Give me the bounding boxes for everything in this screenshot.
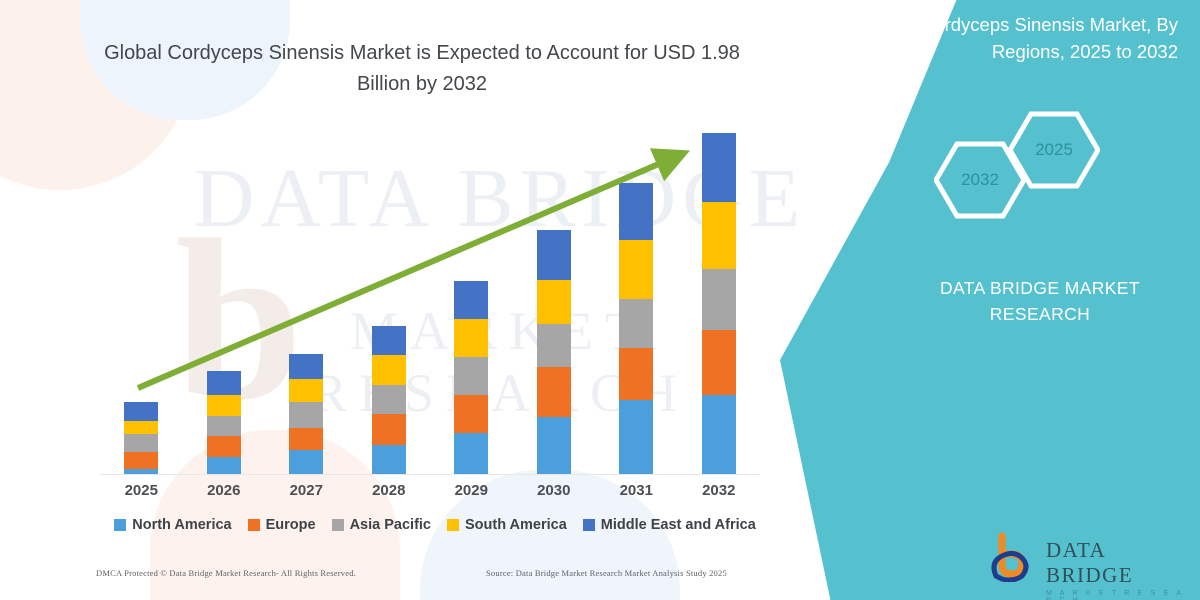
bar-segment-2025-asia-pacific bbox=[124, 434, 158, 451]
legend-item-asia-pacific[interactable]: Asia Pacific bbox=[332, 517, 431, 533]
legend-swatch-icon bbox=[447, 519, 459, 531]
chart-bars bbox=[100, 130, 760, 474]
logo-name: DATA BRIDGE bbox=[1046, 538, 1188, 588]
data-bridge-logo-text: DATA BRIDGE M A R K E T R E S E A R C H bbox=[1046, 538, 1188, 600]
bar-segment-2025-south-america bbox=[124, 421, 158, 435]
bar-segment-2030-europe bbox=[537, 367, 571, 417]
legend-item-south-america[interactable]: South America bbox=[447, 517, 567, 533]
chart-legend: North AmericaEuropeAsia PacificSouth Ame… bbox=[100, 512, 770, 538]
bar-segment-2026-asia-pacific bbox=[207, 416, 241, 437]
chart-baseline bbox=[100, 474, 760, 475]
bar-segment-2029-south-america bbox=[454, 319, 488, 357]
bar-segment-2031-europe bbox=[619, 348, 653, 400]
bar-segment-2027-north-america bbox=[289, 450, 323, 474]
panel-brand-text: DATA BRIDGE MARKET RESEARCH bbox=[905, 275, 1175, 328]
bar-2028[interactable] bbox=[372, 326, 406, 474]
bar-segment-2026-middle-east-and-africa bbox=[207, 371, 241, 395]
bar-2026[interactable] bbox=[207, 371, 241, 474]
legend-label: North America bbox=[132, 517, 231, 533]
bar-segment-2032-south-america bbox=[702, 202, 736, 269]
chart-x-axis-labels: 20252026202720282029203020312032 bbox=[100, 478, 760, 502]
footer-source: Source: Data Bridge Market Research Mark… bbox=[486, 568, 727, 578]
x-axis-label-2032: 2032 bbox=[689, 482, 749, 499]
stacked-bar-chart bbox=[100, 130, 780, 475]
bar-segment-2029-north-america bbox=[454, 433, 488, 474]
legend-label: Asia Pacific bbox=[350, 517, 431, 533]
x-axis-label-2030: 2030 bbox=[524, 482, 584, 499]
x-axis-label-2029: 2029 bbox=[441, 482, 501, 499]
bar-segment-2030-asia-pacific bbox=[537, 324, 571, 367]
bar-segment-2027-asia-pacific bbox=[289, 402, 323, 428]
bar-2031[interactable] bbox=[619, 183, 653, 474]
legend-item-north-america[interactable]: North America bbox=[114, 517, 231, 533]
bar-segment-2028-middle-east-and-africa bbox=[372, 326, 406, 355]
bar-segment-2028-europe bbox=[372, 414, 406, 445]
bar-2030[interactable] bbox=[537, 230, 571, 474]
hexagon-group: 2032 2025 bbox=[930, 110, 1110, 220]
bar-segment-2032-europe bbox=[702, 330, 736, 395]
bar-segment-2031-north-america bbox=[619, 400, 653, 474]
bar-segment-2027-middle-east-and-africa bbox=[289, 354, 323, 380]
bar-2027[interactable] bbox=[289, 354, 323, 474]
x-axis-label-2027: 2027 bbox=[276, 482, 336, 499]
x-axis-label-2028: 2028 bbox=[359, 482, 419, 499]
legend-swatch-icon bbox=[248, 519, 260, 531]
legend-item-europe[interactable]: Europe bbox=[248, 517, 316, 533]
legend-label: South America bbox=[465, 517, 567, 533]
bar-segment-2032-middle-east-and-africa bbox=[702, 133, 736, 202]
infographic-canvas: b DATA BRIDGE MARKET RESEARCH Global Cor… bbox=[0, 0, 1200, 600]
bar-2032[interactable] bbox=[702, 133, 736, 474]
footer-copyright: DMCA Protected © Data Bridge Market Rese… bbox=[96, 568, 356, 578]
legend-label: Middle East and Africa bbox=[601, 517, 756, 533]
bar-segment-2025-middle-east-and-africa bbox=[124, 402, 158, 421]
page-title: Global Cordyceps Sinensis Market is Expe… bbox=[92, 38, 752, 100]
legend-label: Europe bbox=[266, 517, 316, 533]
bar-segment-2026-north-america bbox=[207, 457, 241, 474]
bar-2029[interactable] bbox=[454, 281, 488, 474]
x-axis-label-2025: 2025 bbox=[111, 482, 171, 499]
bar-segment-2025-north-america bbox=[124, 469, 158, 474]
bar-segment-2031-middle-east-and-africa bbox=[619, 183, 653, 240]
x-axis-label-2026: 2026 bbox=[194, 482, 254, 499]
bar-segment-2030-middle-east-and-africa bbox=[537, 230, 571, 280]
bar-segment-2028-asia-pacific bbox=[372, 385, 406, 414]
legend-item-middle-east-and-africa[interactable]: Middle East and Africa bbox=[583, 517, 756, 533]
bar-2025[interactable] bbox=[124, 402, 158, 474]
bar-segment-2030-north-america bbox=[537, 417, 571, 474]
hexagon-2025: 2025 bbox=[1008, 110, 1100, 190]
bar-segment-2028-south-america bbox=[372, 355, 406, 384]
bar-segment-2031-asia-pacific bbox=[619, 299, 653, 349]
bar-segment-2027-south-america bbox=[289, 379, 323, 401]
bar-segment-2032-north-america bbox=[702, 395, 736, 474]
bar-segment-2026-europe bbox=[207, 436, 241, 457]
panel-title: Global Cordyceps Sinensis Market, By Reg… bbox=[813, 12, 1178, 66]
data-bridge-logo: DATA BRIDGE M A R K E T R E S E A R C H bbox=[988, 530, 1188, 585]
bar-segment-2030-south-america bbox=[537, 280, 571, 325]
bar-segment-2027-europe bbox=[289, 428, 323, 450]
legend-swatch-icon bbox=[114, 519, 126, 531]
bar-segment-2029-middle-east-and-africa bbox=[454, 281, 488, 319]
hexagon-2025-label: 2025 bbox=[1008, 110, 1100, 190]
bar-segment-2032-asia-pacific bbox=[702, 269, 736, 329]
bar-segment-2029-asia-pacific bbox=[454, 357, 488, 395]
bar-segment-2026-south-america bbox=[207, 395, 241, 416]
logo-tagline: M A R K E T R E S E A R C H bbox=[1046, 590, 1188, 600]
bar-segment-2029-europe bbox=[454, 395, 488, 433]
x-axis-label-2031: 2031 bbox=[606, 482, 666, 499]
footer: DMCA Protected © Data Bridge Market Rese… bbox=[96, 568, 796, 588]
bar-segment-2031-south-america bbox=[619, 240, 653, 298]
data-bridge-mark-icon bbox=[988, 532, 1040, 582]
legend-swatch-icon bbox=[332, 519, 344, 531]
legend-swatch-icon bbox=[583, 519, 595, 531]
bar-segment-2025-europe bbox=[124, 452, 158, 469]
bar-segment-2028-north-america bbox=[372, 445, 406, 474]
